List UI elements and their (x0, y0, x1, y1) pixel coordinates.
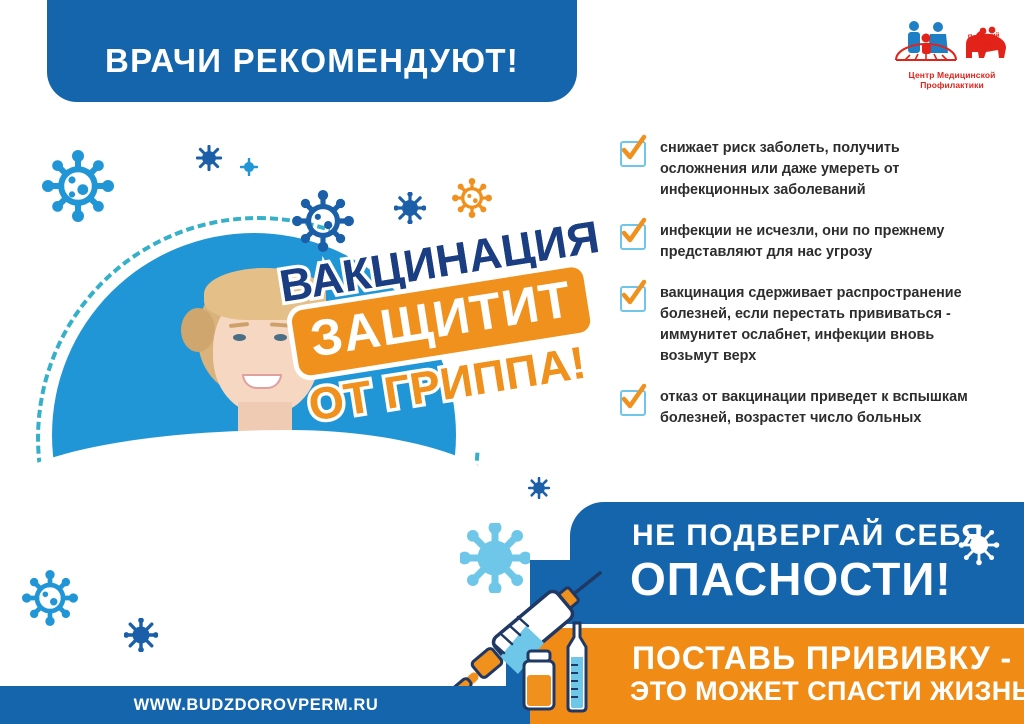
poster-canvas: ВРАЧИ РЕКОМЕНДУЮТ! ПермскийКрай Центр Ме… (0, 0, 1024, 724)
virus-icon (22, 570, 78, 626)
vaccinate-callout-line1: ПОСТАВЬ ПРИВИВКУ - (632, 640, 1012, 677)
danger-callout-line1: НЕ ПОДВЕРГАЙ СЕБЯ (632, 519, 984, 553)
logo-name-line1: Центр Медицинской (888, 70, 1016, 80)
checkbox-checked-icon (620, 390, 646, 416)
page-title: ВРАЧИ РЕКОМЕНДУЮТ! (105, 42, 519, 102)
virus-icon (528, 477, 550, 499)
list-item: инфекции не исчезли, они по прежнему пре… (620, 221, 990, 263)
website-url[interactable]: WWW.BUDZDOROVPERM.RU (134, 696, 379, 715)
virus-icon (292, 190, 354, 252)
vaccine-vial-icon (524, 651, 554, 709)
list-item-label: снижает риск заболеть, получить осложнен… (660, 138, 990, 201)
vaccinate-callout-line2: ЭТО МОЖЕТ СПАСТИ ЖИЗНЬ! (630, 676, 1024, 707)
list-item: вакцинация сдерживает распространение бо… (620, 283, 990, 367)
list-item-label: инфекции не исчезли, они по прежнему пре… (660, 221, 990, 263)
organization-logo: ПермскийКрай Центр Медицинской Профилакт… (888, 14, 1016, 94)
checkbox-checked-icon (620, 224, 646, 250)
photo-bottom-mask (0, 430, 520, 724)
list-item-label: вакцинация сдерживает распространение бо… (660, 283, 990, 367)
logo-name-line2: Профилактики (888, 80, 1016, 90)
ampoule-icon (568, 623, 586, 711)
list-item-label: отказ от вакцинации приведет к вспышкам … (660, 387, 990, 429)
virus-icon (42, 150, 114, 222)
virus-icon (394, 192, 426, 224)
checkbox-checked-icon (620, 141, 646, 167)
virus-icon (452, 178, 492, 218)
footer-bar: WWW.BUDZDOROVPERM.RU (0, 686, 512, 724)
virus-icon (958, 524, 1000, 566)
benefits-list: снижает риск заболеть, получить осложнен… (620, 138, 990, 449)
header-banner: ВРАЧИ РЕКОМЕНДУЮТ! (47, 0, 577, 102)
danger-callout-line2: ОПАСНОСТИ! (630, 552, 952, 606)
list-item: отказ от вакцинации приведет к вспышкам … (620, 387, 990, 429)
virus-icon (124, 618, 158, 652)
virus-icon (196, 145, 222, 171)
checkbox-checked-icon (620, 286, 646, 312)
list-item: снижает риск заболеть, получить осложнен… (620, 138, 990, 201)
virus-icon (240, 158, 258, 176)
virus-icon (460, 523, 530, 593)
